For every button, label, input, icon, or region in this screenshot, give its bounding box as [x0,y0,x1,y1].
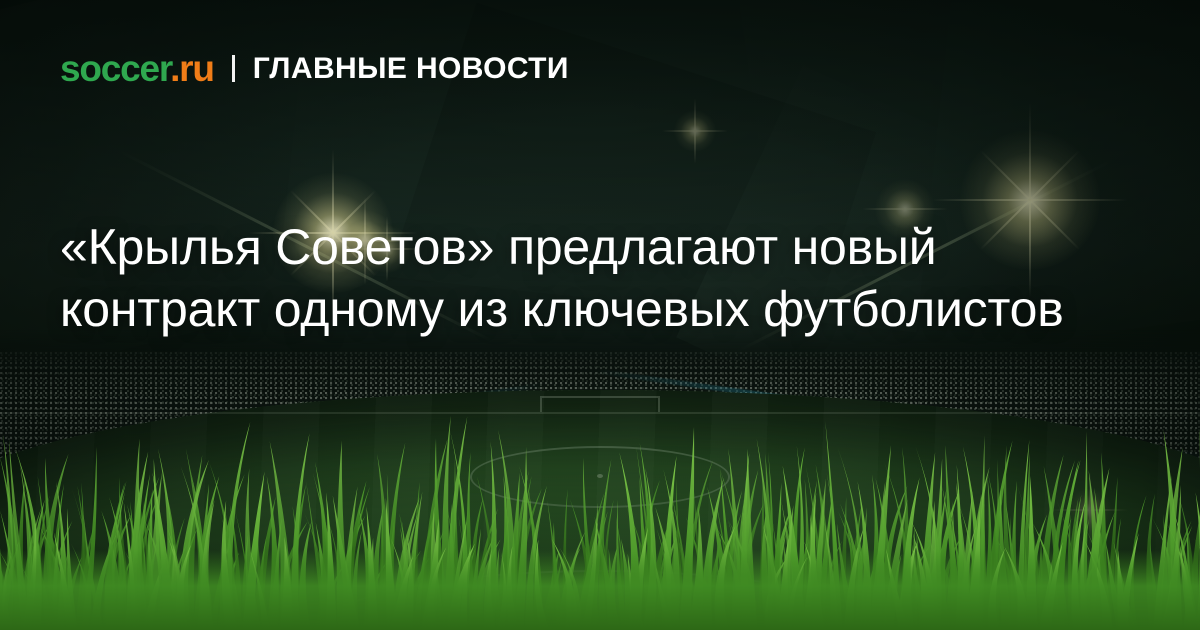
news-banner: soccer.ru ГЛАВНЫЕ НОВОСТИ «Крылья Совето… [0,0,1200,630]
site-logo[interactable]: soccer.ru [60,50,214,87]
header-separator [232,55,235,82]
site-header: soccer.ru ГЛАВНЫЕ НОВОСТИ [60,50,569,87]
logo-name: soccer [60,48,170,89]
header-kicker: ГЛАВНЫЕ НОВОСТИ [253,54,569,84]
page-title: «Крылья Советов» предлагают новый контра… [60,216,1130,340]
logo-tld: .ru [170,48,214,89]
foreground-grass [0,400,1200,630]
